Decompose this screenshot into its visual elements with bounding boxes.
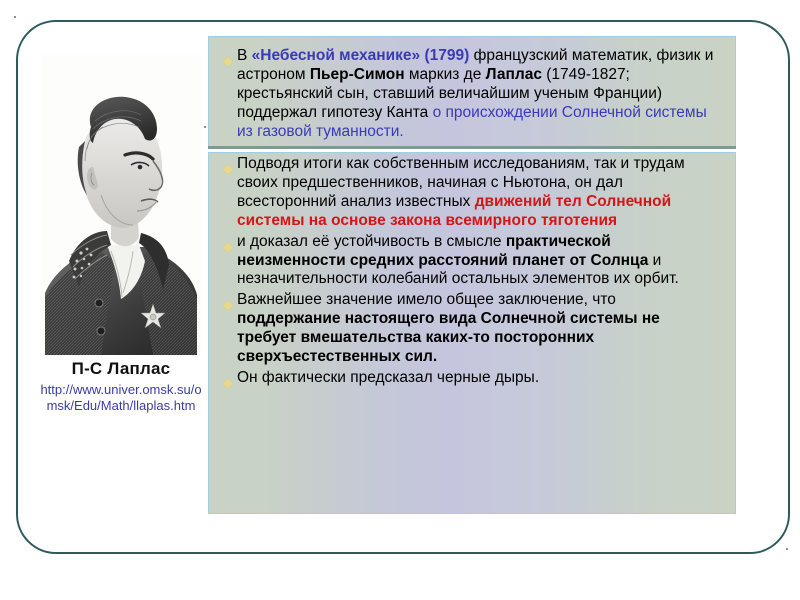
portrait-block: П-С Лаплас http://www.univer.omsk.su/oms… bbox=[26, 55, 216, 414]
intro-paragraph: В «Небесной механике» (1799) французский… bbox=[237, 47, 721, 142]
content-box-main: ◆ Подводя итоги как собственным исследов… bbox=[208, 152, 736, 514]
intro-firstname: Пьер-Симон bbox=[310, 66, 405, 83]
bullet-item-intro: ◆ В «Небесной механике» (1799) французск… bbox=[209, 37, 735, 142]
portrait-source-url[interactable]: http://www.univer.omsk.su/omsk/Edu/Math/… bbox=[38, 382, 204, 414]
para3-seg1: и доказал её устойчивость в смысле bbox=[237, 233, 506, 250]
bullet-diamond-icon: ◆ bbox=[219, 162, 237, 175]
intro-title-highlight: «Небесной механике» (1799) bbox=[252, 47, 470, 64]
scan-speck bbox=[14, 16, 16, 18]
laplace-portrait-image bbox=[41, 55, 201, 355]
bullet-diamond-icon: ◆ bbox=[219, 240, 237, 253]
bullet-item-stability: ◆ и доказал её устойчивость в смысле пра… bbox=[209, 231, 735, 290]
intro-seg1: В bbox=[237, 47, 252, 64]
para4-seg1: Важнейшее значение имело общее заключени… bbox=[237, 291, 616, 308]
para5-seg1: Он фактически предсказал черные дыры. bbox=[237, 369, 539, 386]
para4-bold-highlight: поддержание настоящего вида Солнечной си… bbox=[237, 310, 660, 365]
summary-paragraph: Подводя итоги как собственным исследован… bbox=[237, 155, 721, 231]
bullet-diamond-icon: ◆ bbox=[219, 376, 237, 389]
bullet-item-conclusion: ◆ Важнейшее значение имело общее заключе… bbox=[209, 289, 735, 367]
conclusion-paragraph: Важнейшее значение имело общее заключени… bbox=[237, 291, 721, 367]
portrait-caption: П-С Лаплас bbox=[26, 359, 216, 379]
section-divider bbox=[208, 146, 736, 149]
blackholes-paragraph: Он фактически предсказал черные дыры. bbox=[237, 369, 721, 388]
bullet-item-blackholes: ◆ Он фактически предсказал черные дыры. bbox=[209, 367, 735, 389]
scan-speck bbox=[786, 548, 788, 550]
bullet-diamond-icon: ◆ bbox=[219, 54, 237, 67]
bullet-item-summary: ◆ Подводя итоги как собственным исследов… bbox=[209, 153, 735, 231]
content-box-intro: ◆ В «Небесной механике» (1799) французск… bbox=[208, 36, 736, 148]
bullet-diamond-icon: ◆ bbox=[219, 298, 237, 311]
intro-seg5: маркиз де bbox=[405, 66, 486, 83]
intro-surname: Лаплас bbox=[486, 66, 542, 83]
stability-paragraph: и доказал её устойчивость в смысле практ… bbox=[237, 233, 721, 290]
